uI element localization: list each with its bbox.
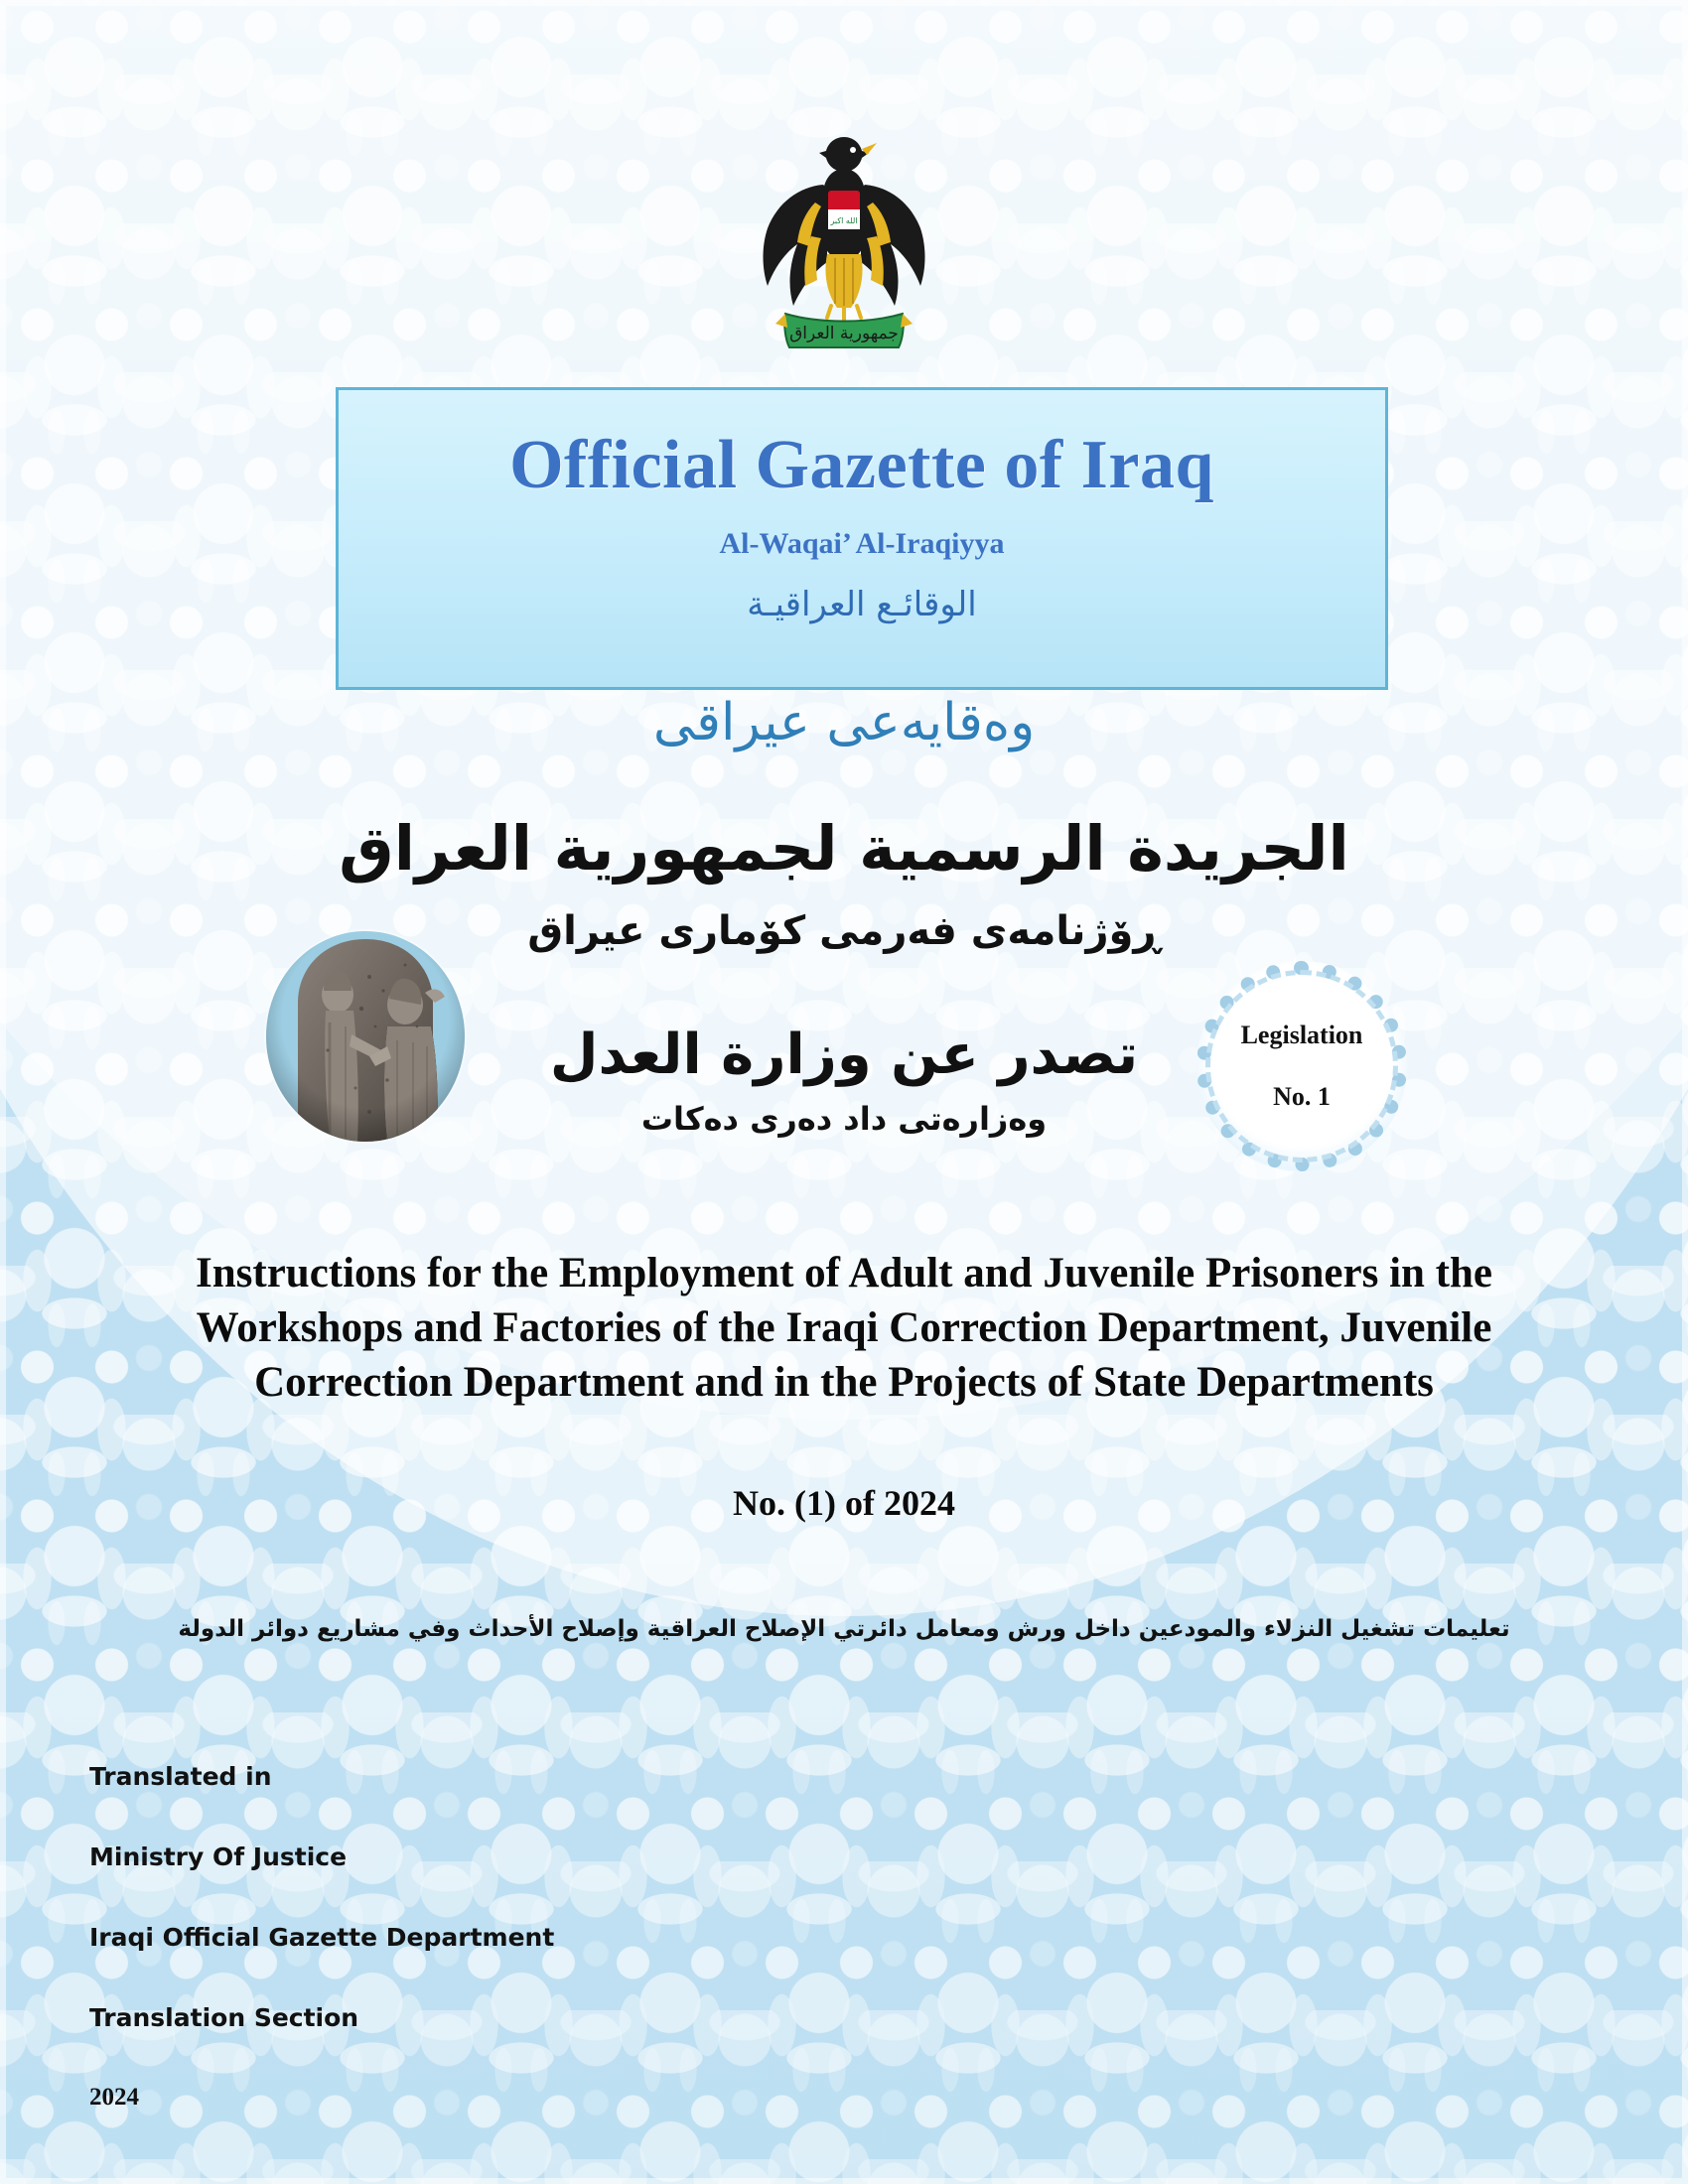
gazette-title-english: Official Gazette of Iraq xyxy=(339,426,1385,505)
document-title-arabic: تعليمات تشغيل النزلاء والمودعين داخل ورش… xyxy=(0,1616,1688,1642)
credit-section: Translation Section xyxy=(89,2003,554,2032)
svg-text:جمهورية العراق: جمهورية العراق xyxy=(789,324,899,343)
official-journal-kurdish-heading: ڕۆژنامەی فەرمی کۆماری عیراق xyxy=(0,908,1688,954)
svg-text:الله اكبر: الله اكبر xyxy=(830,216,858,225)
credit-department: Iraqi Official Gazette Department xyxy=(89,1923,554,1952)
issuer-kurdish: وەزارەتی داد دەری دەکات xyxy=(0,1100,1688,1138)
credit-year: 2024 xyxy=(89,2084,554,2112)
document-title-english: Instructions for the Employment of Adult… xyxy=(189,1246,1499,1410)
gazette-title-kurdish: وەقایەعی عیراقی xyxy=(0,693,1688,752)
document-number: No. (1) of 2024 xyxy=(0,1482,1688,1524)
official-journal-arabic-heading: الجريدة الرسمية لجمهورية العراق xyxy=(0,812,1688,885)
gazette-title-arabic: الوقائـع العراقيـة xyxy=(339,585,1385,624)
credit-translated-in: Translated in xyxy=(89,1762,554,1791)
credit-ministry: Ministry Of Justice xyxy=(89,1843,554,1871)
masthead-box: Official Gazette of Iraq Al-Waqai’ Al-Ir… xyxy=(336,387,1388,690)
translation-credits: Translated in Ministry Of Justice Iraqi … xyxy=(89,1762,554,2112)
iraq-national-emblem-icon: الله اكبر جمهورية العراق xyxy=(750,129,938,362)
gazette-title-transliteration: Al-Waqai’ Al-Iraqiyya xyxy=(339,527,1385,561)
issuer-arabic: تصدر عن وزارة العدل xyxy=(0,1023,1688,1087)
gazette-cover-page: الله اكبر جمهورية العراق Official Gazett… xyxy=(0,0,1688,2184)
